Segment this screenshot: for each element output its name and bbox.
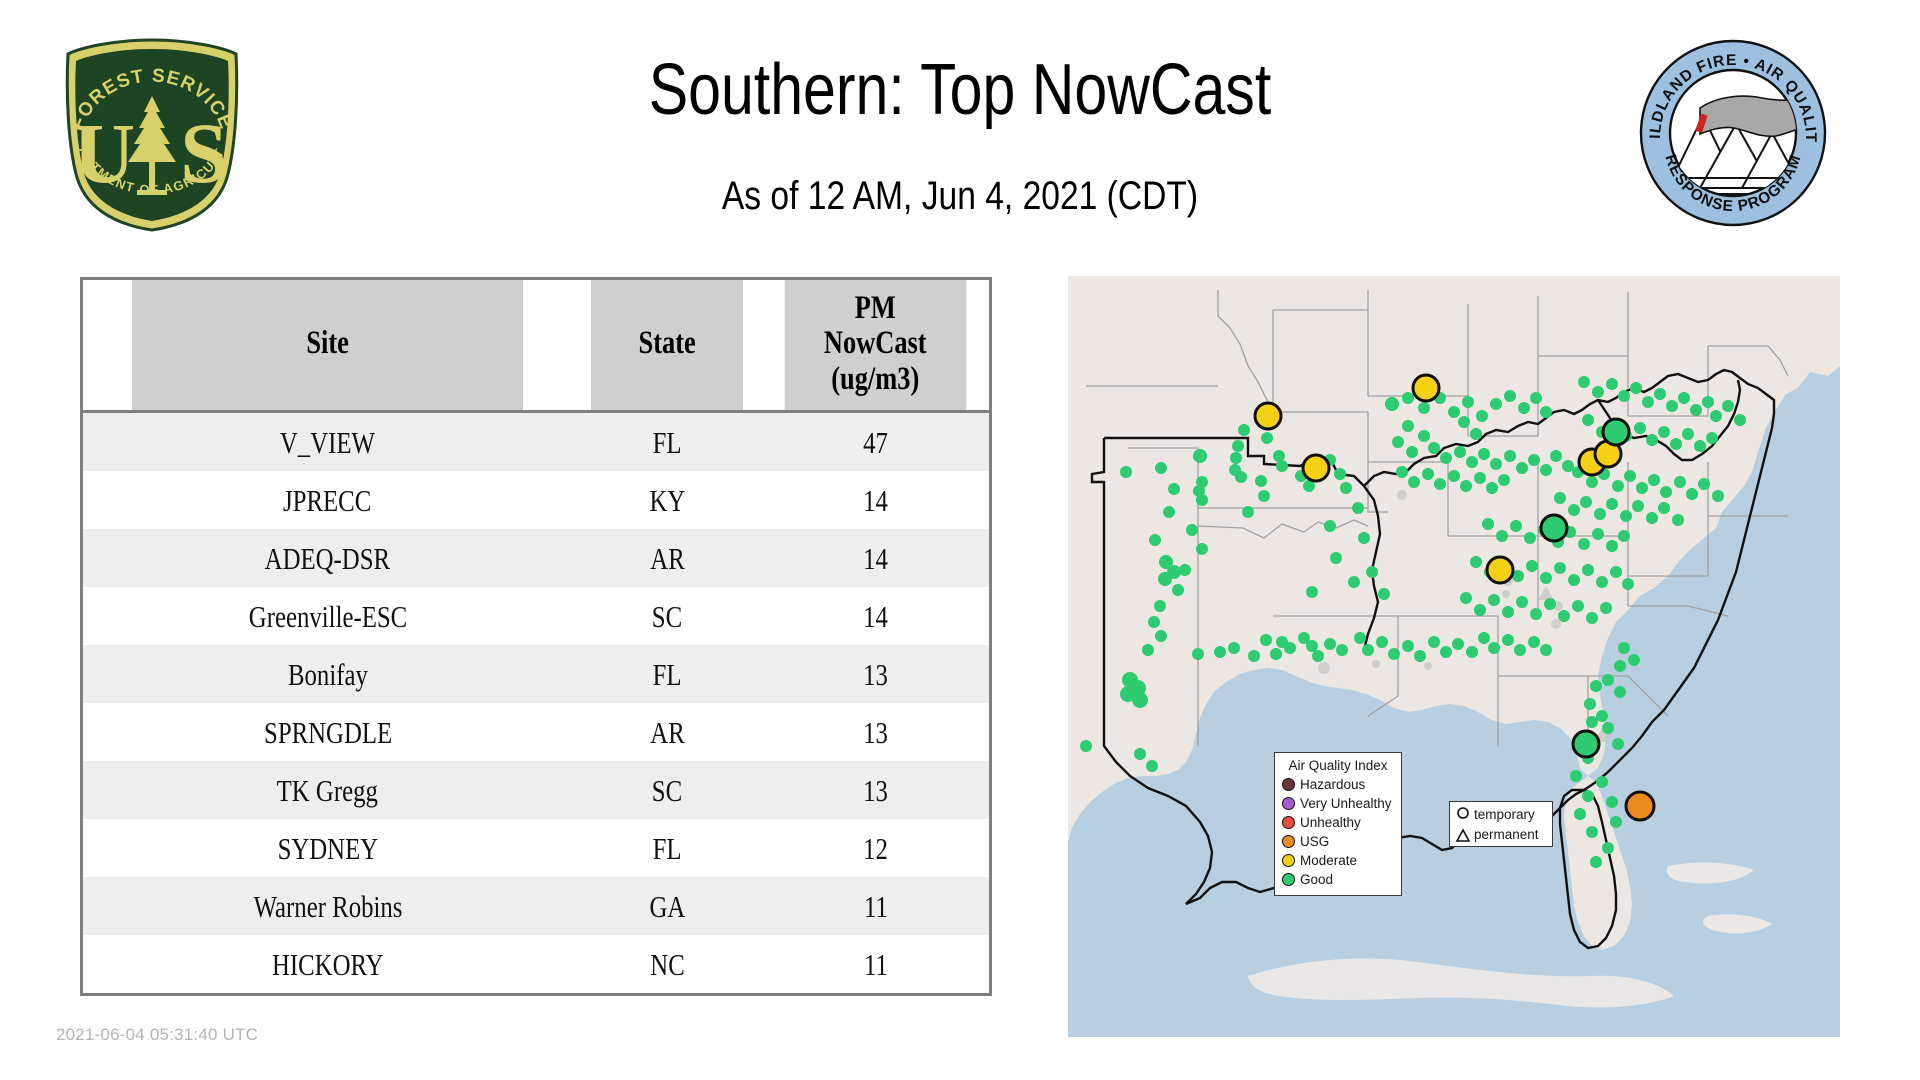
cell-site: Bonifay [83, 645, 572, 703]
permanent-site-triangle-icon [1455, 827, 1471, 844]
cell-site: Warner Robins [83, 877, 572, 935]
cell-state: NC [572, 935, 762, 993]
table-row: Warner Robins GA 11 [83, 877, 989, 935]
cell-site: ADEQ-DSR [83, 529, 572, 587]
map-marker-usg [1626, 792, 1654, 820]
air-quality-map[interactable] [1068, 276, 1840, 1037]
aqi-legend-label: Moderate [1300, 854, 1357, 868]
cell-state: FL [572, 819, 762, 877]
aqi-legend-item-unhealthy: Unhealthy [1282, 813, 1394, 832]
table-row: SPRNGDLE AR 13 [83, 703, 989, 761]
cell-pm-nowcast: 47 [762, 412, 989, 472]
wildland-fire-air-quality-response-program-logo: WILDLAND FIRE • AIR QUALITY RESPONSE PRO… [1638, 38, 1828, 228]
usda-forest-service-logo: FOREST SERVICE DEPARTMENT OF AGRICULTURE… [52, 34, 252, 234]
cell-state: AR [572, 529, 762, 587]
column-header-site-label: Site [306, 326, 349, 362]
table-header-row: Site State PM NowCast (ug/m3) [83, 280, 989, 412]
cell-site: SPRNGDLE [83, 703, 572, 761]
cell-pm-nowcast: 13 [762, 761, 989, 819]
cell-pm-nowcast: 13 [762, 703, 989, 761]
table-row: Greenville-ESC SC 14 [83, 587, 989, 645]
cell-site: HICKORY [83, 935, 572, 993]
air-quality-index-legend: Air Quality Index Hazardous Very Unhealt… [1274, 752, 1402, 896]
aqi-swatch-usg-icon [1282, 835, 1295, 848]
cell-state: KY [572, 471, 762, 529]
svg-text:S: S [180, 105, 228, 201]
aqi-swatch-good-icon [1282, 873, 1295, 886]
temporary-site-circle-icon [1455, 807, 1471, 824]
cell-site: JPRECC [83, 471, 572, 529]
table-row: V_VIEW FL 47 [83, 412, 989, 472]
aqi-legend-label: Unhealthy [1300, 816, 1361, 830]
aqi-legend-title: Air Quality Index [1282, 758, 1394, 773]
column-header-site: Site [132, 280, 523, 412]
aqi-legend-label: Very Unhealthy [1300, 797, 1392, 811]
column-header-pm-line3: (ug/m3) [832, 362, 920, 398]
site-type-item-temporary: temporary [1455, 805, 1547, 825]
cell-site: V_VIEW [83, 412, 572, 472]
nowcast-table: Site State PM NowCast (ug/m3) V_VIEW FL … [80, 277, 992, 996]
table-row: HICKORY NC 11 [83, 935, 989, 993]
column-header-pm-nowcast: PM NowCast (ug/m3) [785, 280, 966, 412]
cell-pm-nowcast: 11 [762, 935, 989, 993]
cell-site: SYDNEY [83, 819, 572, 877]
column-header-state: State [591, 280, 743, 412]
table-row: JPRECC KY 14 [83, 471, 989, 529]
cell-pm-nowcast: 14 [762, 529, 989, 587]
page-subtitle: As of 12 AM, Jun 4, 2021 (CDT) [406, 176, 1515, 216]
cell-site: Greenville-ESC [83, 587, 572, 645]
svg-text:U: U [73, 105, 135, 201]
cell-pm-nowcast: 14 [762, 471, 989, 529]
cell-pm-nowcast: 12 [762, 819, 989, 877]
cell-state: FL [572, 645, 762, 703]
aqi-legend-item-hazardous: Hazardous [1282, 775, 1394, 794]
column-header-pm-line1: PM [855, 291, 896, 327]
site-type-item-permanent: permanent [1455, 825, 1547, 845]
aqi-swatch-very-unhealthy-icon [1282, 797, 1295, 810]
cell-state: SC [572, 761, 762, 819]
cell-pm-nowcast: 14 [762, 587, 989, 645]
aqi-legend-label: USG [1300, 835, 1329, 849]
map-marker-moderate [1255, 403, 1281, 429]
aqi-legend-item-moderate: Moderate [1282, 851, 1394, 870]
table-row: Bonifay FL 13 [83, 645, 989, 703]
cell-state: GA [572, 877, 762, 935]
column-header-state-label: State [639, 326, 696, 362]
table-row: TK Gregg SC 13 [83, 761, 989, 819]
site-type-label: temporary [1474, 808, 1535, 822]
cell-pm-nowcast: 13 [762, 645, 989, 703]
table-row: SYDNEY FL 12 [83, 819, 989, 877]
aqi-swatch-moderate-icon [1282, 854, 1295, 867]
table-row: ADEQ-DSR AR 14 [83, 529, 989, 587]
aqi-legend-item-very-unhealthy: Very Unhealthy [1282, 794, 1394, 813]
map-marker-good [1603, 419, 1629, 445]
cell-state: SC [572, 587, 762, 645]
aqi-legend-item-usg: USG [1282, 832, 1394, 851]
generated-timestamp: 2021-06-04 05:31:40 UTC [56, 1025, 258, 1045]
aqi-legend-label: Good [1300, 873, 1333, 887]
page-title: Southern: Top NowCast [419, 54, 1501, 126]
column-header-pm-line2: NowCast [824, 326, 927, 362]
aqi-legend-label: Hazardous [1300, 778, 1365, 792]
aqi-legend-item-good: Good [1282, 870, 1394, 889]
map-marker-moderate [1303, 455, 1329, 481]
site-type-label: permanent [1474, 828, 1539, 842]
map-marker-moderate [1487, 557, 1513, 583]
cell-state: FL [572, 412, 762, 472]
cell-site: TK Gregg [83, 761, 572, 819]
aqi-swatch-unhealthy-icon [1282, 816, 1295, 829]
map-marker-good [1573, 731, 1599, 757]
map-marker-good [1541, 515, 1567, 541]
cell-pm-nowcast: 11 [762, 877, 989, 935]
site-type-legend: temporary permanent [1449, 801, 1553, 847]
cell-state: AR [572, 703, 762, 761]
map-marker-moderate [1413, 375, 1439, 401]
aqi-swatch-hazardous-icon [1282, 778, 1295, 791]
